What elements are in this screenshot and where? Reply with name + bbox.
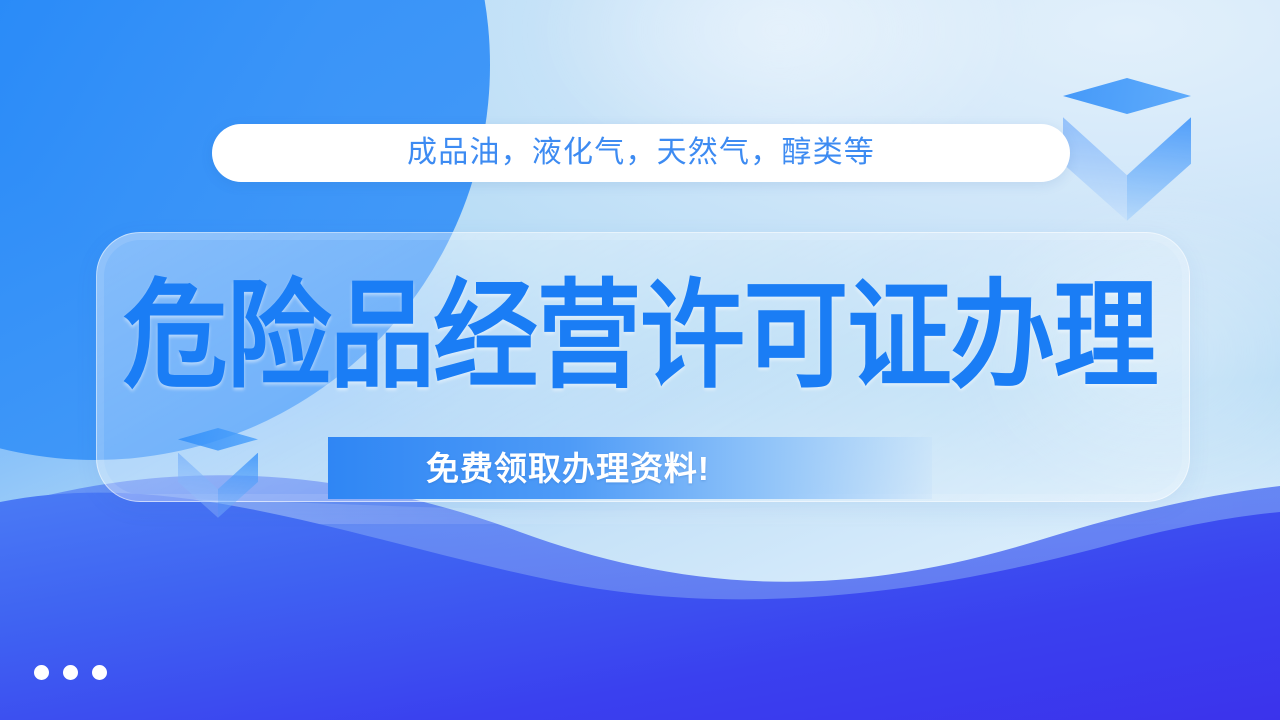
- cube-face-left: [1063, 117, 1127, 221]
- cube-icon-large: [1063, 78, 1191, 218]
- tagline-pill: 成品油，液化气，天然气，醇类等: [212, 124, 1070, 182]
- cube-face-top: [1063, 78, 1191, 142]
- cube-icon-small: [178, 428, 258, 516]
- cta-banner[interactable]: 免费领取办理资料!: [328, 437, 932, 499]
- tagline-text: 成品油，液化气，天然气，醇类等: [407, 138, 875, 168]
- carousel-dot[interactable]: [92, 665, 107, 680]
- cube-face-right: [218, 453, 258, 518]
- banner-stage: 成品油，液化气，天然气，醇类等 危险品经营许可证办理 免费领取办理资料!: [0, 0, 1280, 720]
- cube-face-left: [178, 453, 218, 518]
- cube-face-top: [178, 428, 258, 468]
- cube-face-right: [1127, 117, 1191, 221]
- cta-banner-text: 免费领取办理资料!: [328, 452, 710, 485]
- carousel-dots[interactable]: [34, 665, 107, 680]
- carousel-dot[interactable]: [63, 665, 78, 680]
- carousel-dot[interactable]: [34, 665, 49, 680]
- page-title: 危险品经营许可证办理: [0, 278, 1280, 396]
